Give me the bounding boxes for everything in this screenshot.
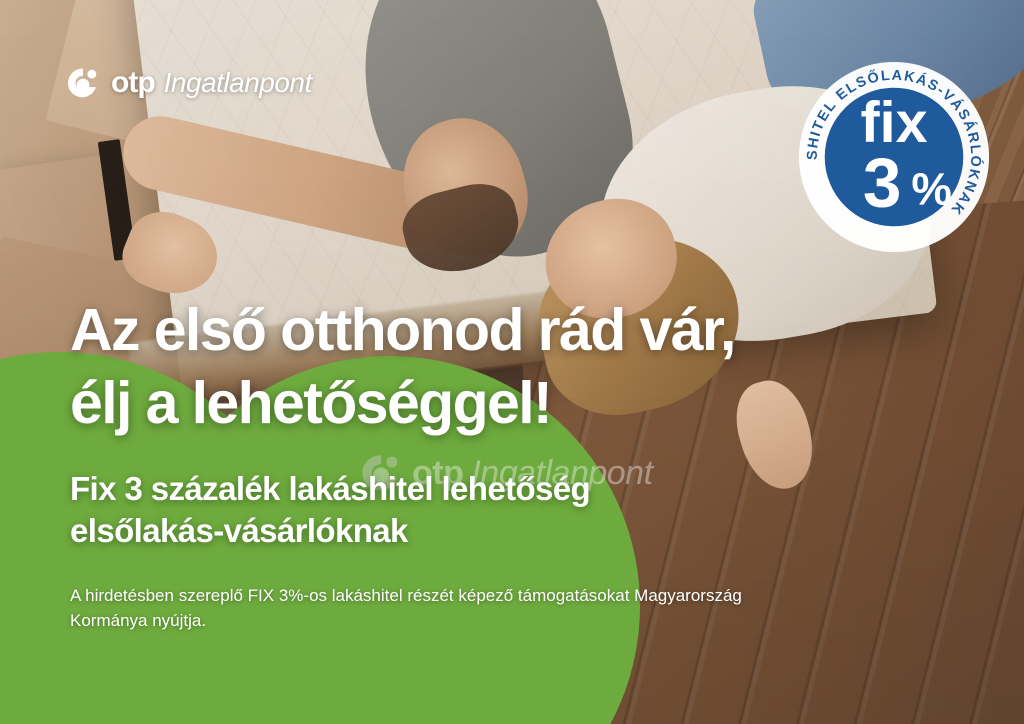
subheadline-line-2: elsőlakás-vásárlóknak	[70, 512, 408, 549]
copy-block: Az első otthonod rád vár, élj a lehetősé…	[70, 300, 950, 634]
legal-line-1: A hirdetésben szereplő FIX 3%-os lakáshi…	[70, 586, 629, 605]
otp-ingatlanpont-logo[interactable]: otp Ingatlanpont	[66, 66, 312, 100]
brand-unit: Ingatlanpont	[164, 69, 312, 97]
subheadline: Fix 3 százalék lakáshitel lehetőség első…	[70, 468, 950, 554]
page-title: Az első otthonod rád vár, élj a lehetősé…	[70, 300, 950, 434]
ad-banner: otp Ingatlanpont otp Ingatlanpont LAKÁS	[0, 0, 1024, 724]
fix-3-percent-badge: LAKÁSHITEL ELSŐLAKÁS-VÁSÁRLÓKNAK fix 3 %	[795, 58, 993, 256]
legal-disclaimer: A hirdetésben szereplő FIX 3%-os lakáshi…	[70, 583, 770, 633]
badge-percent: %	[911, 164, 952, 215]
badge-number: 3	[863, 144, 902, 222]
otp-logo-icon	[66, 66, 100, 100]
headline-line-1: Az első otthonod rád vár,	[70, 297, 735, 363]
subheadline-line-1: Fix 3 százalék lakáshitel lehetőség	[70, 470, 590, 507]
brand-name: otp	[111, 68, 155, 98]
headline-line-2: élj a lehetőséggel!	[70, 373, 950, 434]
